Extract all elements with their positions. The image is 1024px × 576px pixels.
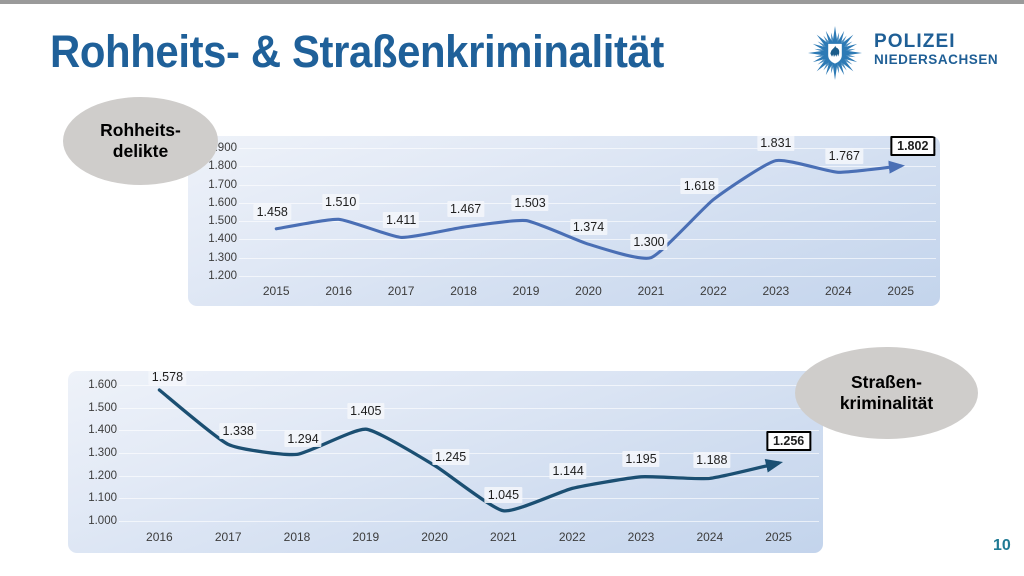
chart-plot-strassenkriminalitaet: 1.6001.5001.4001.3001.2001.1001.00020162…	[68, 371, 823, 553]
top-divider-bar	[0, 0, 1024, 4]
data-label: 1.411	[383, 212, 419, 228]
bubble-strassenkriminalitaet-line1: Straßen-	[840, 372, 933, 393]
chart-data-line	[159, 390, 778, 511]
data-label: 1.405	[347, 403, 384, 419]
data-label: 1.618	[681, 178, 718, 194]
chart-data-line	[276, 160, 901, 258]
data-label: 1.300	[630, 234, 667, 250]
page-title: Rohheits- & Straßenkriminalität	[50, 26, 664, 78]
page-number: 10	[993, 537, 1011, 555]
data-label: 1.831	[757, 136, 794, 151]
data-label: 1.195	[622, 451, 659, 467]
logo-line-niedersachsen: NIEDERSACHSEN	[874, 52, 998, 68]
data-label: 1.767	[826, 148, 863, 164]
data-label: 1.458	[254, 204, 291, 220]
bubble-strassenkriminalitaet-line2: kriminalität	[840, 393, 933, 414]
data-label: 1.188	[693, 452, 730, 468]
data-label-highlighted: 1.256	[766, 431, 811, 451]
data-label: 1.045	[485, 487, 522, 503]
data-label: 1.578	[149, 371, 186, 385]
data-label: 1.294	[284, 431, 321, 447]
bubble-rohheitsdelikte-line2: delikte	[100, 141, 181, 162]
data-label-highlighted: 1.802	[890, 136, 935, 156]
bubble-rohheitsdelikte-line1: Rohheits-	[100, 120, 181, 141]
logo-line-polizei: POLIZEI	[874, 32, 998, 52]
polizei-niedersachsen-logo: POLIZEI NIEDERSACHSEN	[806, 24, 1012, 82]
data-label: 1.374	[570, 219, 607, 235]
data-label: 1.510	[322, 194, 359, 210]
data-label: 1.503	[511, 195, 548, 211]
chart-plot-rohheitsdelikte: 1.9001.8001.7001.6001.5001.4001.3001.200…	[188, 136, 940, 306]
label-bubble-strassenkriminalitaet: Straßen- kriminalität	[795, 347, 978, 439]
chart-panel-rohheitsdelikte: 1.9001.8001.7001.6001.5001.4001.3001.200…	[188, 136, 940, 306]
data-label: 1.467	[447, 201, 484, 217]
label-bubble-rohheitsdelikte: Rohheits- delikte	[63, 97, 218, 185]
police-star-shield-horse-icon	[806, 24, 864, 82]
data-label: 1.245	[432, 449, 469, 465]
data-label: 1.144	[550, 463, 587, 479]
chart-panel-strassenkriminalitaet: 1.6001.5001.4001.3001.2001.1001.00020162…	[68, 371, 823, 553]
data-label: 1.338	[220, 423, 257, 439]
logo-wordmark: POLIZEI NIEDERSACHSEN	[874, 32, 998, 68]
